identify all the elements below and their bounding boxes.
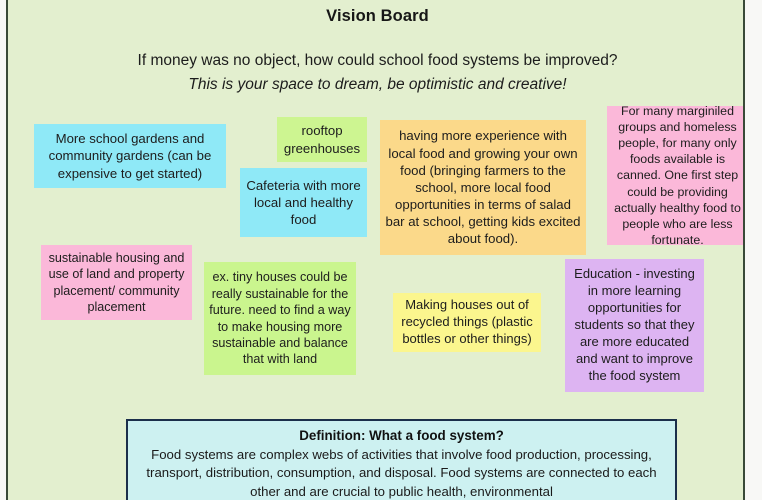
prompt-subtitle: This is your space to dream, be optimist… — [8, 76, 745, 94]
definition-body: Food systems are complex webs of activit… — [138, 446, 665, 500]
sticky-note-text: Education - investing in more learning o… — [570, 266, 699, 384]
vision-board-canvas: Vision Board If money was no object, how… — [0, 0, 762, 500]
sticky-note-rooftop-greenhouses[interactable]: rooftop greenhouses — [277, 117, 367, 162]
sticky-note-text: ex. tiny houses could be really sustaina… — [209, 269, 351, 367]
sticky-note-text: sustainable housing and use of land and … — [46, 250, 187, 315]
sticky-note-text: rooftop greenhouses — [282, 122, 362, 156]
sticky-note-text: Cafeteria with more local and healthy fo… — [245, 177, 362, 228]
definition-title: Definition: What a food system? — [138, 428, 665, 443]
sticky-note-sustainable-housing[interactable]: sustainable housing and use of land and … — [41, 245, 192, 320]
sticky-note-marginalized-groups[interactable]: For many marginiled groups and homeless … — [607, 106, 745, 245]
sticky-note-text: More school gardens and community garden… — [39, 130, 221, 181]
sticky-note-tiny-houses[interactable]: ex. tiny houses could be really sustaina… — [204, 262, 356, 375]
page-title: Vision Board — [8, 7, 745, 26]
sticky-note-cafeteria[interactable]: Cafeteria with more local and healthy fo… — [240, 168, 367, 237]
sticky-note-text: having more experience with local food a… — [385, 127, 581, 247]
slide: Vision Board If money was no object, how… — [6, 0, 745, 500]
sticky-note-education[interactable]: Education - investing in more learning o… — [565, 259, 704, 392]
sticky-note-recycled-houses[interactable]: Making houses out of recycled things (pl… — [393, 293, 541, 352]
definition-box: Definition: What a food system? Food sys… — [126, 419, 677, 500]
sticky-note-text: For many marginiled groups and homeless … — [612, 103, 743, 248]
sticky-note-text: Making houses out of recycled things (pl… — [398, 297, 536, 348]
sticky-note-school-gardens[interactable]: More school gardens and community garden… — [34, 124, 226, 188]
sticky-note-local-food-experience[interactable]: having more experience with local food a… — [380, 120, 586, 255]
prompt-question: If money was no object, how could school… — [8, 52, 745, 70]
